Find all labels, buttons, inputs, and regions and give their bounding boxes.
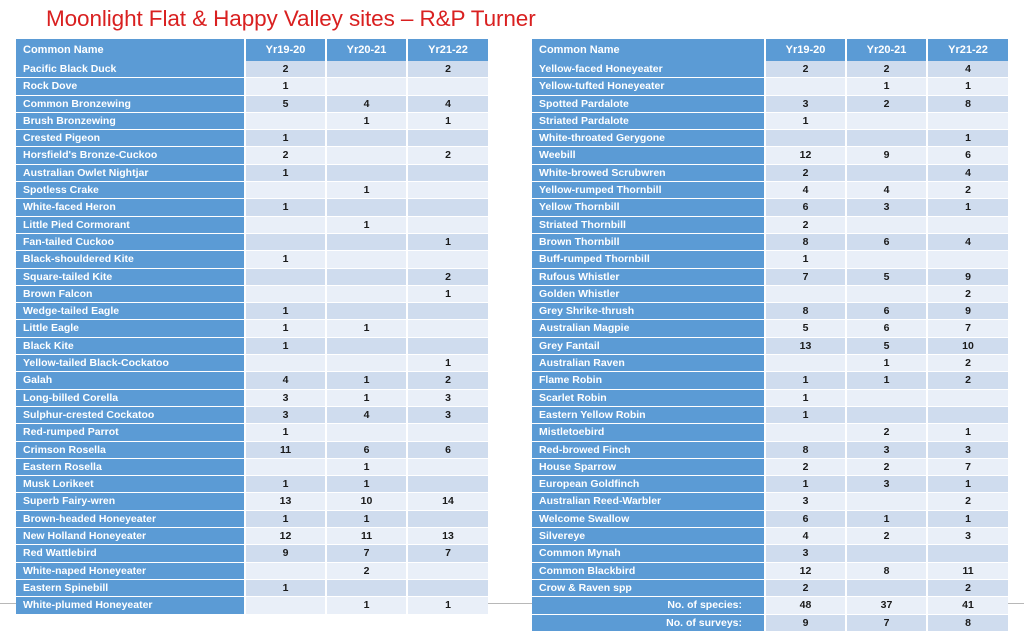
- summary-row-label: No. of surveys:: [532, 614, 765, 631]
- count-cell: [927, 251, 1008, 268]
- count-cell: 2: [927, 493, 1008, 510]
- count-cell: [927, 216, 1008, 233]
- count-cell: 9: [765, 614, 846, 631]
- species-name-cell: Eastern Spinebill: [16, 579, 245, 596]
- count-cell: 4: [927, 233, 1008, 250]
- species-name-cell: Brown Falcon: [16, 285, 245, 302]
- table-row[interactable]: European Goldfinch131: [532, 476, 1008, 493]
- count-cell: 2: [846, 95, 927, 112]
- count-cell: 1: [326, 510, 407, 527]
- count-cell: 1: [245, 510, 326, 527]
- count-cell: 2: [927, 372, 1008, 389]
- species-name-cell: Brush Bronzewing: [16, 112, 245, 129]
- count-cell: 6: [765, 199, 846, 216]
- count-cell: [846, 164, 927, 181]
- count-cell: 1: [326, 182, 407, 199]
- table-row[interactable]: Sulphur-crested Cockatoo343: [16, 406, 488, 423]
- count-cell: [765, 285, 846, 302]
- count-cell: 2: [326, 562, 407, 579]
- count-cell: [326, 164, 407, 181]
- table-right-header-row: Common Name Yr19-20 Yr20-21 Yr21-22: [532, 39, 1008, 61]
- table-row[interactable]: Rock Dove1: [16, 78, 488, 95]
- count-cell: 2: [407, 147, 488, 164]
- table-row[interactable]: Pacific Black Duck22: [16, 61, 488, 78]
- species-name-cell: Little Pied Cormorant: [16, 216, 245, 233]
- column-header-yr21-22[interactable]: Yr21-22: [407, 39, 488, 61]
- table-row[interactable]: Spotless Crake1: [16, 182, 488, 199]
- column-header-yr20-21[interactable]: Yr20-21: [846, 39, 927, 61]
- count-cell: [846, 130, 927, 147]
- count-cell: 4: [765, 182, 846, 199]
- table-row[interactable]: White-faced Heron1: [16, 199, 488, 216]
- table-row[interactable]: Common Bronzewing544: [16, 95, 488, 112]
- count-cell: 1: [765, 389, 846, 406]
- count-cell: [765, 424, 846, 441]
- species-name-cell: Silvereye: [532, 528, 765, 545]
- table-row[interactable]: Australian Magpie567: [532, 320, 1008, 337]
- table-row[interactable]: Buff-rumped Thornbill1: [532, 251, 1008, 268]
- table-row[interactable]: Brush Bronzewing11: [16, 112, 488, 129]
- count-cell: [326, 233, 407, 250]
- count-cell: 13: [407, 528, 488, 545]
- table-row[interactable]: Black Kite1: [16, 337, 488, 354]
- count-cell: [245, 182, 326, 199]
- count-cell: 6: [846, 233, 927, 250]
- count-cell: 1: [326, 389, 407, 406]
- count-cell: [407, 320, 488, 337]
- count-cell: [846, 493, 927, 510]
- count-cell: [326, 303, 407, 320]
- count-cell: 1: [927, 130, 1008, 147]
- count-cell: [407, 78, 488, 95]
- count-cell: 8: [765, 233, 846, 250]
- table-row[interactable]: White-throated Gerygone1: [532, 130, 1008, 147]
- count-cell: [245, 216, 326, 233]
- species-name-cell: Wedge-tailed Eagle: [16, 303, 245, 320]
- count-cell: 3: [846, 199, 927, 216]
- count-cell: 2: [765, 458, 846, 475]
- table-row[interactable]: Red-browed Finch833: [532, 441, 1008, 458]
- species-name-cell: Brown-headed Honeyeater: [16, 510, 245, 527]
- species-name-cell: Galah: [16, 372, 245, 389]
- table-row[interactable]: Crow & Raven spp22: [532, 579, 1008, 596]
- species-name-cell: Common Bronzewing: [16, 95, 245, 112]
- count-cell: [245, 285, 326, 302]
- table-row[interactable]: Musk Lorikeet11: [16, 476, 488, 493]
- count-cell: [846, 251, 927, 268]
- count-cell: 1: [927, 510, 1008, 527]
- table-row[interactable]: Yellow-faced Honeyeater224: [532, 61, 1008, 78]
- count-cell: [407, 199, 488, 216]
- count-cell: 10: [326, 493, 407, 510]
- count-cell: [927, 406, 1008, 423]
- count-cell: 3: [407, 406, 488, 423]
- species-name-cell: Horsfield's Bronze-Cuckoo: [16, 147, 245, 164]
- table-row[interactable]: Fan-tailed Cuckoo1: [16, 233, 488, 250]
- count-cell: 4: [326, 95, 407, 112]
- count-cell: 1: [245, 579, 326, 596]
- count-cell: 1: [326, 458, 407, 475]
- count-cell: 7: [407, 545, 488, 562]
- column-header-yr20-21[interactable]: Yr20-21: [326, 39, 407, 61]
- count-cell: 1: [927, 424, 1008, 441]
- table-row[interactable]: Spotted Pardalote328: [532, 95, 1008, 112]
- count-cell: 7: [765, 268, 846, 285]
- count-cell: [846, 579, 927, 596]
- species-name-cell: White-browed Scrubwren: [532, 164, 765, 181]
- table-row[interactable]: Little Pied Cormorant1: [16, 216, 488, 233]
- column-header-yr19-20[interactable]: Yr19-20: [245, 39, 326, 61]
- count-cell: [326, 579, 407, 596]
- count-cell: [927, 545, 1008, 562]
- table-row[interactable]: Wedge-tailed Eagle1: [16, 303, 488, 320]
- table-row[interactable]: Yellow-tailed Black-Cockatoo1: [16, 355, 488, 372]
- count-cell: [765, 355, 846, 372]
- species-name-cell: White-faced Heron: [16, 199, 245, 216]
- column-header-common-name[interactable]: Common Name: [16, 39, 245, 61]
- species-name-cell: Spotless Crake: [16, 182, 245, 199]
- count-cell: [326, 61, 407, 78]
- species-name-cell: Square-tailed Kite: [16, 268, 245, 285]
- table-row[interactable]: New Holland Honeyeater121113: [16, 528, 488, 545]
- count-cell: 8: [765, 303, 846, 320]
- count-cell: 4: [846, 182, 927, 199]
- species-name-cell: Grey Shrike-thrush: [532, 303, 765, 320]
- count-cell: [846, 216, 927, 233]
- count-cell: 2: [407, 61, 488, 78]
- count-cell: 7: [326, 545, 407, 562]
- count-cell: 2: [407, 268, 488, 285]
- count-cell: [245, 268, 326, 285]
- species-name-cell: Red Wattlebird: [16, 545, 245, 562]
- species-name-cell: Yellow Thornbill: [532, 199, 765, 216]
- count-cell: 41: [927, 597, 1008, 614]
- count-cell: 4: [765, 528, 846, 545]
- count-cell: [407, 510, 488, 527]
- count-cell: [407, 182, 488, 199]
- species-name-cell: Yellow-tailed Black-Cockatoo: [16, 355, 245, 372]
- count-cell: [407, 337, 488, 354]
- species-name-cell: European Goldfinch: [532, 476, 765, 493]
- count-cell: 13: [765, 337, 846, 354]
- count-cell: 1: [765, 112, 846, 129]
- count-cell: 2: [927, 182, 1008, 199]
- count-cell: 1: [245, 476, 326, 493]
- count-cell: 2: [846, 458, 927, 475]
- count-cell: 3: [245, 389, 326, 406]
- count-cell: 3: [245, 406, 326, 423]
- table-row[interactable]: Australian Owlet Nightjar1: [16, 164, 488, 181]
- table-left-header: Common Name Yr19-20 Yr20-21 Yr21-22: [16, 39, 488, 61]
- count-cell: 1: [846, 510, 927, 527]
- table-row[interactable]: Grey Shrike-thrush869: [532, 303, 1008, 320]
- table-row[interactable]: Horsfield's Bronze-Cuckoo22: [16, 147, 488, 164]
- table-row[interactable]: Galah412: [16, 372, 488, 389]
- species-name-cell: Australian Raven: [532, 355, 765, 372]
- count-cell: 10: [927, 337, 1008, 354]
- count-cell: [326, 130, 407, 147]
- count-cell: 1: [407, 597, 488, 614]
- table-row[interactable]: White-browed Scrubwren24: [532, 164, 1008, 181]
- species-name-cell: Long-billed Corella: [16, 389, 245, 406]
- count-cell: 9: [927, 268, 1008, 285]
- count-cell: 7: [927, 320, 1008, 337]
- count-cell: 4: [407, 95, 488, 112]
- table-row[interactable]: Brown-headed Honeyeater11: [16, 510, 488, 527]
- count-cell: [326, 355, 407, 372]
- table-row[interactable]: Yellow Thornbill631: [532, 199, 1008, 216]
- count-cell: 1: [326, 476, 407, 493]
- table-row[interactable]: Eastern Rosella1: [16, 458, 488, 475]
- count-cell: [326, 251, 407, 268]
- count-cell: 3: [407, 389, 488, 406]
- count-cell: 1: [326, 597, 407, 614]
- species-name-cell: Eastern Yellow Robin: [532, 406, 765, 423]
- count-cell: 11: [927, 562, 1008, 579]
- bird-count-table-right: Common Name Yr19-20 Yr20-21 Yr21-22 Yell…: [532, 39, 1008, 632]
- table-row[interactable]: White-naped Honeyeater2: [16, 562, 488, 579]
- species-name-cell: Striated Thornbill: [532, 216, 765, 233]
- count-cell: 1: [245, 251, 326, 268]
- species-name-cell: Eastern Rosella: [16, 458, 245, 475]
- count-cell: [326, 285, 407, 302]
- count-cell: [245, 562, 326, 579]
- species-name-cell: Rock Dove: [16, 78, 245, 95]
- count-cell: 9: [846, 147, 927, 164]
- table-row[interactable]: Mistletoebird21: [532, 424, 1008, 441]
- count-cell: [326, 337, 407, 354]
- count-cell: 5: [245, 95, 326, 112]
- count-cell: [326, 424, 407, 441]
- count-cell: 1: [326, 372, 407, 389]
- table-right-header: Common Name Yr19-20 Yr20-21 Yr21-22: [532, 39, 1008, 61]
- count-cell: 1: [765, 406, 846, 423]
- table-row[interactable]: Golden Whistler2: [532, 285, 1008, 302]
- count-cell: [326, 199, 407, 216]
- species-name-cell: Little Eagle: [16, 320, 245, 337]
- count-cell: [407, 251, 488, 268]
- column-header-common-name[interactable]: Common Name: [532, 39, 765, 61]
- table-row[interactable]: Weebill1296: [532, 147, 1008, 164]
- count-cell: 2: [765, 61, 846, 78]
- count-cell: 1: [846, 355, 927, 372]
- count-cell: 6: [765, 510, 846, 527]
- count-cell: 6: [846, 303, 927, 320]
- species-name-cell: Musk Lorikeet: [16, 476, 245, 493]
- table-row[interactable]: Eastern Yellow Robin1: [532, 406, 1008, 423]
- species-name-cell: Common Mynah: [532, 545, 765, 562]
- table-row[interactable]: Eastern Spinebill1: [16, 579, 488, 596]
- species-name-cell: Yellow-tufted Honeyeater: [532, 78, 765, 95]
- table-row[interactable]: Red Wattlebird977: [16, 545, 488, 562]
- table-right-body: Yellow-faced Honeyeater224Yellow-tufted …: [532, 61, 1008, 631]
- table-row[interactable]: Brown Thornbill864: [532, 233, 1008, 250]
- count-cell: 2: [927, 285, 1008, 302]
- table-row[interactable]: Crested Pigeon1: [16, 130, 488, 147]
- count-cell: 1: [407, 285, 488, 302]
- species-name-cell: Crimson Rosella: [16, 441, 245, 458]
- count-cell: 2: [927, 355, 1008, 372]
- species-name-cell: Welcome Swallow: [532, 510, 765, 527]
- table-row[interactable]: Long-billed Corella313: [16, 389, 488, 406]
- count-cell: [245, 112, 326, 129]
- count-cell: 3: [765, 493, 846, 510]
- bird-count-table-left: Common Name Yr19-20 Yr20-21 Yr21-22 Paci…: [16, 39, 488, 615]
- column-header-yr19-20[interactable]: Yr19-20: [765, 39, 846, 61]
- table-row[interactable]: Brown Falcon1: [16, 285, 488, 302]
- species-name-cell: White-throated Gerygone: [532, 130, 765, 147]
- count-cell: 1: [765, 251, 846, 268]
- count-cell: 3: [765, 545, 846, 562]
- species-name-cell: Red-rumped Parrot: [16, 424, 245, 441]
- count-cell: [927, 389, 1008, 406]
- species-name-cell: New Holland Honeyeater: [16, 528, 245, 545]
- table-row[interactable]: Common Blackbird12811: [532, 562, 1008, 579]
- count-cell: 1: [407, 112, 488, 129]
- count-cell: 3: [846, 476, 927, 493]
- species-name-cell: Sulphur-crested Cockatoo: [16, 406, 245, 423]
- count-cell: 8: [846, 562, 927, 579]
- species-name-cell: Yellow-rumped Thornbill: [532, 182, 765, 199]
- count-cell: 2: [765, 579, 846, 596]
- table-row[interactable]: Scarlet Robin1: [532, 389, 1008, 406]
- count-cell: 6: [846, 320, 927, 337]
- species-name-cell: Brown Thornbill: [532, 233, 765, 250]
- species-name-cell: Australian Reed-Warbler: [532, 493, 765, 510]
- count-cell: [245, 355, 326, 372]
- table-row[interactable]: No. of surveys:978: [532, 614, 1008, 631]
- table-row[interactable]: Welcome Swallow611: [532, 510, 1008, 527]
- count-cell: 4: [927, 164, 1008, 181]
- count-cell: [407, 164, 488, 181]
- species-name-cell: Scarlet Robin: [532, 389, 765, 406]
- species-name-cell: White-naped Honeyeater: [16, 562, 245, 579]
- count-cell: [407, 130, 488, 147]
- count-cell: [407, 424, 488, 441]
- table-row[interactable]: Australian Reed-Warbler32: [532, 493, 1008, 510]
- count-cell: 9: [927, 303, 1008, 320]
- count-cell: [245, 458, 326, 475]
- count-cell: [927, 112, 1008, 129]
- table-row[interactable]: Red-rumped Parrot1: [16, 424, 488, 441]
- table-row[interactable]: House Sparrow227: [532, 458, 1008, 475]
- count-cell: 6: [407, 441, 488, 458]
- count-cell: [846, 545, 927, 562]
- species-name-cell: House Sparrow: [532, 458, 765, 475]
- count-cell: 1: [245, 424, 326, 441]
- table-row[interactable]: Black-shouldered Kite1: [16, 251, 488, 268]
- count-cell: 1: [245, 164, 326, 181]
- table-row[interactable]: Little Eagle11: [16, 320, 488, 337]
- count-cell: [407, 458, 488, 475]
- species-name-cell: Grey Fantail: [532, 337, 765, 354]
- count-cell: 4: [927, 61, 1008, 78]
- count-cell: 1: [765, 372, 846, 389]
- count-cell: 7: [846, 614, 927, 631]
- count-cell: [765, 130, 846, 147]
- count-cell: 37: [846, 597, 927, 614]
- species-name-cell: Yellow-faced Honeyeater: [532, 61, 765, 78]
- table-row[interactable]: Grey Fantail13510: [532, 337, 1008, 354]
- table-row[interactable]: Superb Fairy-wren131014: [16, 493, 488, 510]
- count-cell: [846, 285, 927, 302]
- species-name-cell: Mistletoebird: [532, 424, 765, 441]
- count-cell: 2: [765, 164, 846, 181]
- table-row[interactable]: Striated Pardalote1: [532, 112, 1008, 129]
- species-name-cell: Buff-rumped Thornbill: [532, 251, 765, 268]
- species-name-cell: Golden Whistler: [532, 285, 765, 302]
- count-cell: 1: [245, 130, 326, 147]
- species-name-cell: Crested Pigeon: [16, 130, 245, 147]
- table-row[interactable]: Crimson Rosella1166: [16, 441, 488, 458]
- species-name-cell: Australian Magpie: [532, 320, 765, 337]
- table-left-body: Pacific Black Duck22Rock Dove1Common Bro…: [16, 61, 488, 614]
- species-name-cell: Spotted Pardalote: [532, 95, 765, 112]
- species-name-cell: Red-browed Finch: [532, 441, 765, 458]
- count-cell: 5: [765, 320, 846, 337]
- table-row[interactable]: Yellow-tufted Honeyeater11: [532, 78, 1008, 95]
- count-cell: 12: [765, 562, 846, 579]
- table-row[interactable]: Flame Robin112: [532, 372, 1008, 389]
- table-row[interactable]: Silvereye423: [532, 528, 1008, 545]
- count-cell: [326, 147, 407, 164]
- count-cell: 3: [927, 528, 1008, 545]
- count-cell: 1: [326, 112, 407, 129]
- count-cell: 7: [927, 458, 1008, 475]
- count-cell: 2: [846, 424, 927, 441]
- count-cell: 1: [927, 199, 1008, 216]
- count-cell: 12: [765, 147, 846, 164]
- count-cell: 5: [846, 268, 927, 285]
- species-name-cell: Rufous Whistler: [532, 268, 765, 285]
- count-cell: 1: [846, 78, 927, 95]
- count-cell: [846, 406, 927, 423]
- count-cell: 48: [765, 597, 846, 614]
- species-name-cell: Pacific Black Duck: [16, 61, 245, 78]
- count-cell: [245, 597, 326, 614]
- count-cell: 3: [846, 441, 927, 458]
- count-cell: 1: [245, 78, 326, 95]
- count-cell: 2: [765, 216, 846, 233]
- table-row[interactable]: Common Mynah3: [532, 545, 1008, 562]
- count-cell: 8: [765, 441, 846, 458]
- count-cell: [407, 579, 488, 596]
- table-row[interactable]: White-plumed Honeyeater11: [16, 597, 488, 614]
- count-cell: 2: [245, 147, 326, 164]
- table-row[interactable]: Striated Thornbill2: [532, 216, 1008, 233]
- count-cell: [407, 303, 488, 320]
- column-header-yr21-22[interactable]: Yr21-22: [927, 39, 1008, 61]
- table-left-header-row: Common Name Yr19-20 Yr20-21 Yr21-22: [16, 39, 488, 61]
- count-cell: 2: [846, 528, 927, 545]
- count-cell: 14: [407, 493, 488, 510]
- table-row[interactable]: Square-tailed Kite2: [16, 268, 488, 285]
- table-row[interactable]: No. of species:483741: [532, 597, 1008, 614]
- table-row[interactable]: Yellow-rumped Thornbill442: [532, 182, 1008, 199]
- count-cell: 8: [927, 614, 1008, 631]
- table-row[interactable]: Rufous Whistler759: [532, 268, 1008, 285]
- species-name-cell: Black Kite: [16, 337, 245, 354]
- species-name-cell: Striated Pardalote: [532, 112, 765, 129]
- species-name-cell: Black-shouldered Kite: [16, 251, 245, 268]
- table-row[interactable]: Australian Raven12: [532, 355, 1008, 372]
- count-cell: [407, 216, 488, 233]
- species-name-cell: Australian Owlet Nightjar: [16, 164, 245, 181]
- count-cell: 9: [245, 545, 326, 562]
- species-name-cell: Fan-tailed Cuckoo: [16, 233, 245, 250]
- count-cell: 1: [846, 372, 927, 389]
- species-name-cell: Flame Robin: [532, 372, 765, 389]
